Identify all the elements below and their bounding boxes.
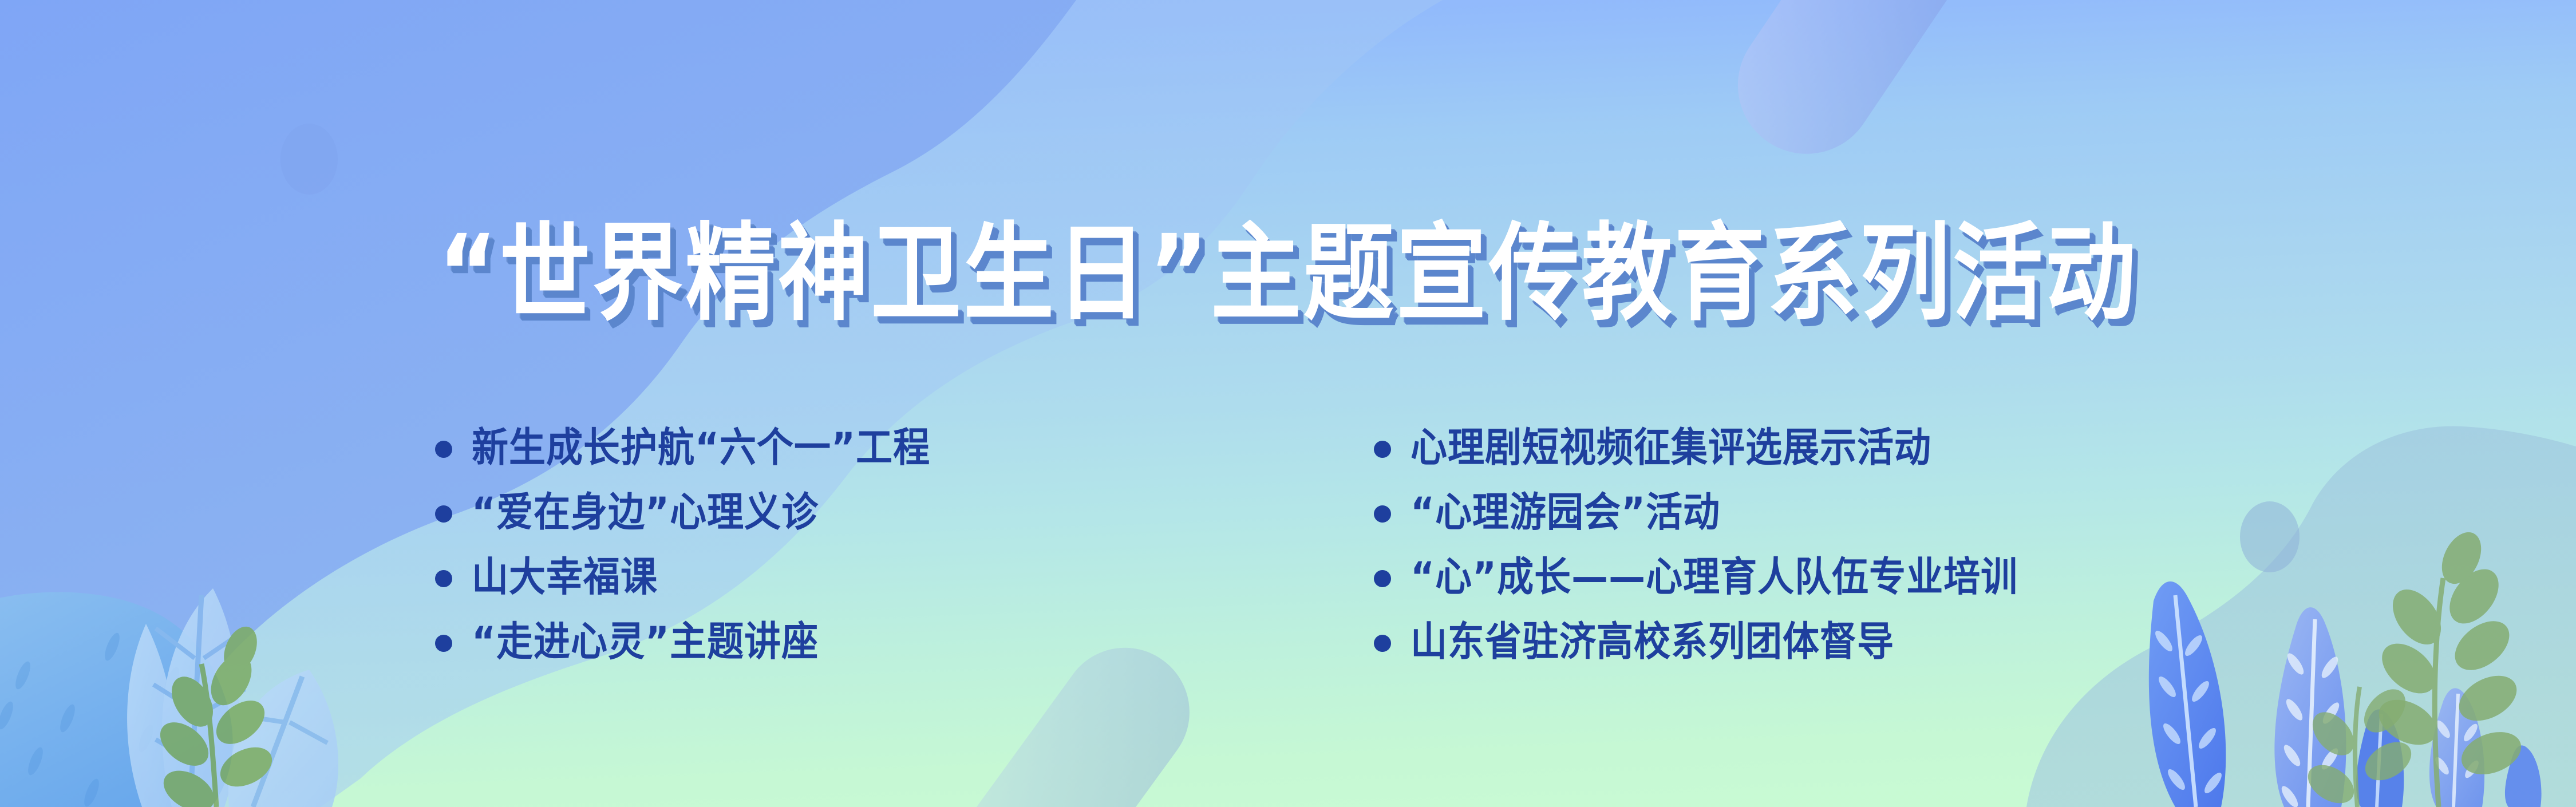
bullet-dot-icon — [435, 441, 452, 458]
bullet-dot-icon — [1374, 570, 1391, 587]
activity-column-right: 心理剧短视频征集评选展示活动 “心理游园会”活动 “心”成长——心理育人队伍专业… — [1374, 416, 2347, 674]
list-item[interactable]: “心”成长——心理育人队伍专业培训 — [1374, 545, 2347, 610]
top-capsule — [1711, 0, 2017, 180]
activity-label: 心理剧短视频征集评选展示活动 — [1411, 428, 1931, 468]
list-item[interactable]: “爱在身边”心理义诊 — [435, 480, 1328, 545]
list-item[interactable]: 山东省驻济高校系列团体督导 — [1374, 610, 2347, 674]
bullet-dot-icon — [1374, 441, 1391, 458]
list-item[interactable]: “心理游园会”活动 — [1374, 480, 2347, 545]
banner-root: “世界精神卫生日”主题宣传教育系列活动 新生成长护航“六个一”工程 “爱在身边”… — [0, 0, 2576, 807]
list-item[interactable]: 新生成长护航“六个一”工程 — [435, 416, 1328, 480]
bullet-dot-icon — [1374, 505, 1391, 523]
bullet-dot-icon — [1374, 635, 1391, 652]
activity-lists: 新生成长护航“六个一”工程 “爱在身边”心理义诊 山大幸福课 “走进心灵”主题讲… — [0, 416, 2576, 736]
title-row: “世界精神卫生日”主题宣传教育系列活动 — [0, 221, 2576, 311]
activity-label: 山东省驻济高校系列团体督导 — [1411, 622, 1894, 662]
page-title: “世界精神卫生日”主题宣传教育系列活动 — [438, 221, 2138, 327]
activity-label: “心理游园会”活动 — [1411, 492, 1720, 532]
bullet-dot-icon — [435, 635, 452, 652]
activity-label: “爱在身边”心理义诊 — [472, 492, 819, 532]
activity-label: “心”成长——心理育人队伍专业培训 — [1411, 557, 2018, 597]
activity-column-left: 新生成长护航“六个一”工程 “爱在身边”心理义诊 山大幸福课 “走进心灵”主题讲… — [435, 416, 1328, 674]
activity-label: 新生成长护航“六个一”工程 — [472, 428, 930, 468]
list-item[interactable]: 心理剧短视频征集评选展示活动 — [1374, 416, 2347, 480]
bullet-dot-icon — [435, 570, 452, 587]
activity-label: “走进心灵”主题讲座 — [472, 622, 819, 662]
list-item[interactable]: 山大幸福课 — [435, 545, 1328, 610]
activity-label: 山大幸福课 — [472, 557, 658, 597]
bullet-dot-icon — [435, 505, 452, 523]
top-left-ellipse — [280, 124, 338, 195]
list-item[interactable]: “走进心灵”主题讲座 — [435, 610, 1328, 674]
